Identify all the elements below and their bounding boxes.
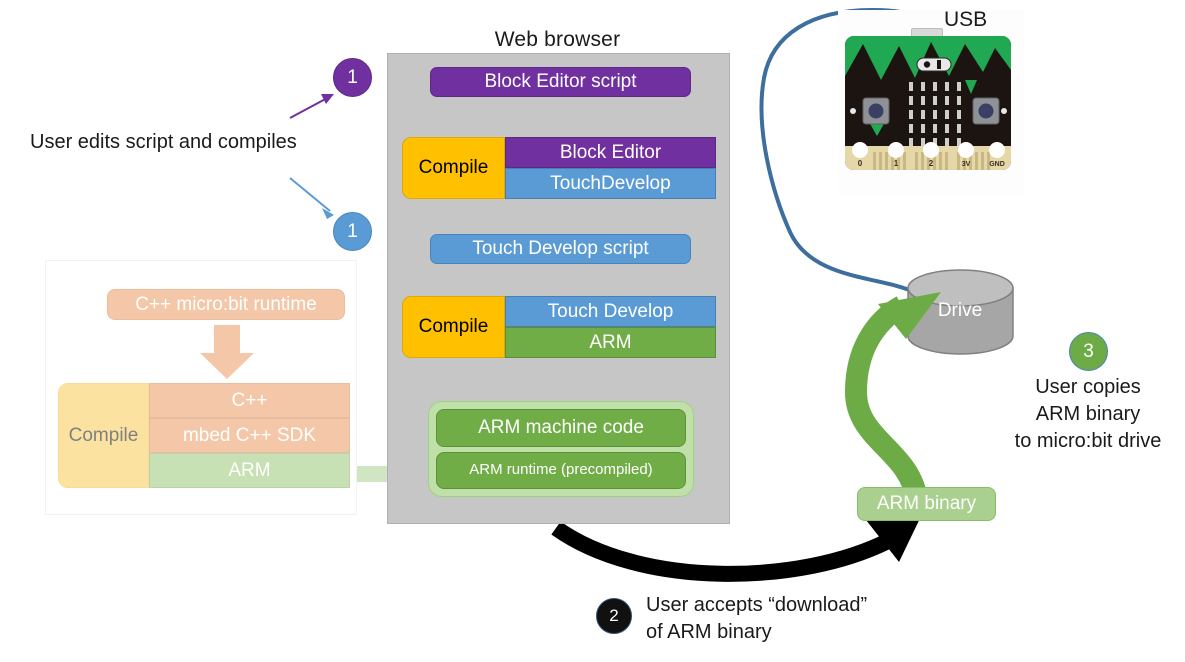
step-marker-1-blue: 1 — [333, 212, 372, 251]
cpp-compile-stage: Compile C++ mbed C++ SDK ARM — [58, 383, 350, 488]
microbit-pin-label-1: 1 — [894, 159, 899, 168]
compile-stage-touch-develop: Compile Touch Develop ARM — [402, 296, 716, 358]
cpp-microbit-runtime-box: C++ micro:bit runtime — [107, 289, 345, 320]
arm-binary-box: ARM binary — [857, 487, 996, 521]
arm-output-group: ARM machine code ARM runtime (precompile… — [428, 401, 694, 497]
microbit-pin-label-gnd: GND — [989, 161, 1005, 168]
block-editor-script-box[interactable]: Block Editor script — [430, 67, 691, 97]
browser-title: Web browser — [387, 28, 728, 52]
step-3-caption-line-2: ARM binary — [1013, 401, 1163, 428]
arm-machine-code-box: ARM machine code — [436, 409, 686, 447]
cpp-stack-mbed-sdk: mbed C++ SDK — [149, 418, 350, 453]
annotation-arrow-purple — [290, 94, 334, 118]
microbit-pin-label-3v: 3V — [962, 161, 971, 168]
cpp-compile-label: Compile — [58, 383, 149, 488]
arm-runtime-box: ARM runtime (precompiled) — [436, 452, 686, 490]
step-marker-3: 3 — [1069, 332, 1108, 371]
cpp-stack-arm: ARM — [149, 453, 350, 488]
step-1-caption: User edits script and compiles — [30, 131, 297, 154]
touch-develop-script-box[interactable]: Touch Develop script — [430, 234, 691, 264]
microbit-board: 0 1 2 3V GND — [845, 36, 1011, 170]
usb-label: USB — [944, 8, 987, 32]
compile-2-target: ARM — [505, 327, 716, 358]
microbit-pin-label-0: 0 — [858, 159, 863, 168]
compile-1-source: Block Editor — [505, 137, 716, 168]
diagram-canvas: 0 1 2 3V GND Web browser Block Editor sc… — [0, 0, 1185, 662]
step-2-caption-line-1: User accepts “download” — [646, 592, 867, 619]
compile-2-source: Touch Develop — [505, 296, 716, 327]
compile-1-target: TouchDevelop — [505, 168, 716, 199]
step-marker-2: 2 — [596, 598, 632, 634]
annotation-arrow-blue — [290, 178, 334, 219]
step-3-caption-line-3: to micro:bit drive — [1013, 428, 1163, 455]
cpp-stack-cpp: C++ — [149, 383, 350, 418]
microbit-pin-label-2: 2 — [929, 159, 934, 168]
left-panel-flow-arrow — [196, 325, 258, 379]
compile-stage-block-editor: Compile Block Editor TouchDevelop — [402, 137, 716, 199]
step-marker-1-purple: 1 — [333, 58, 372, 97]
step-2-caption: User accepts “download” of ARM binary — [646, 592, 867, 646]
compile-label-1: Compile — [402, 137, 505, 199]
compile-label-2: Compile — [402, 296, 505, 358]
drive-label: Drive — [908, 300, 1012, 322]
step-2-caption-line-2: of ARM binary — [646, 619, 867, 646]
step-3-caption-line-1: User copies — [1013, 374, 1163, 401]
step-3-caption: User copies ARM binary to micro:bit driv… — [1013, 374, 1163, 455]
